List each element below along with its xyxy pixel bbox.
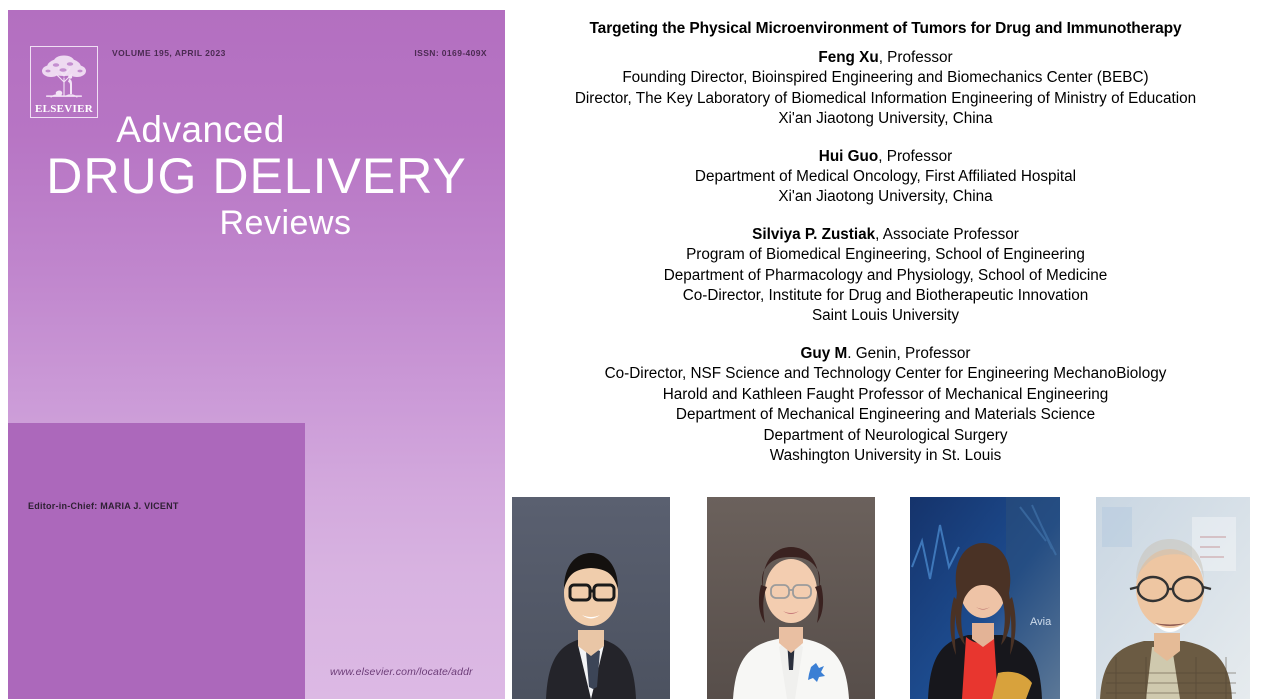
presenter-role: , Professor: [879, 49, 953, 66]
presenter-role: , Professor: [878, 148, 952, 165]
editor-in-chief-block: Editor-in-Chief: MARIA J. VICENT: [8, 423, 305, 699]
presenter-affiliation: Harold and Kathleen Faught Professor of …: [415, 385, 1266, 405]
presenter-entry: Feng Xu, Professor Founding Director, Bi…: [415, 48, 1266, 130]
presenter-entry: Hui Guo, Professor Department of Medical…: [415, 147, 1266, 208]
elsevier-tree-icon: [36, 52, 92, 102]
presenter-affiliation: Program of Biomedical Engineering, Schoo…: [415, 245, 1266, 265]
presenter-affiliation: Director, The Key Laboratory of Biomedic…: [415, 89, 1266, 109]
presenter-affiliation: Xi'an Jiaotong University, China: [415, 109, 1266, 129]
presenter-name: Guy M: [800, 345, 847, 362]
presenter-name: Silviya P. Zustiak: [752, 226, 875, 243]
presenter-name-line: Hui Guo, Professor: [415, 147, 1266, 167]
presenter-name-line: Guy M. Genin, Professor: [415, 344, 1266, 364]
cover-url-text: www.elsevier.com/locate/addr: [330, 666, 473, 678]
slide-page: VOLUME 195, APRIL 2023 ISSN: 0169-409X: [0, 0, 1266, 699]
presenter-name-line: Silviya P. Zustiak, Associate Professor: [415, 225, 1266, 245]
editor-in-chief-text: Editor-in-Chief: MARIA J. VICENT: [28, 501, 179, 511]
presenter-affiliation: Washington University in St. Louis: [415, 446, 1266, 466]
presenter-affiliation: Co-Director, NSF Science and Technology …: [415, 364, 1266, 384]
presenter-affiliation: Saint Louis University: [415, 306, 1266, 326]
presenter-entry: Silviya P. Zustiak, Associate Professor …: [415, 225, 1266, 327]
presenter-role: , Associate Professor: [875, 226, 1019, 243]
presenter-affiliation: Founding Director, Bioinspired Engineeri…: [415, 68, 1266, 88]
presenter-affiliation: Department of Neurological Surgery: [415, 426, 1266, 446]
presenter-affiliation: Department of Pharmacology and Physiolog…: [415, 266, 1266, 286]
presenter-name-line: Feng Xu, Professor: [415, 48, 1266, 68]
page-title: Targeting the Physical Microenvironment …: [505, 20, 1266, 38]
presenter-list: Feng Xu, Professor Founding Director, Bi…: [415, 48, 1266, 466]
presenter-affiliation: Co-Director, Institute for Drug and Biot…: [415, 286, 1266, 306]
presenter-entry: Guy M. Genin, Professor Co-Director, NSF…: [415, 344, 1266, 466]
presenter-name: Feng Xu: [818, 49, 878, 66]
presenter-affiliation: Department of Mechanical Engineering and…: [415, 405, 1266, 425]
presenter-affiliation: Xi'an Jiaotong University, China: [415, 187, 1266, 207]
presenter-affiliation: Department of Medical Oncology, First Af…: [415, 167, 1266, 187]
presenter-name: Hui Guo: [819, 148, 878, 165]
cover-volume-text: VOLUME 195, APRIL 2023: [112, 48, 226, 58]
presenter-role: . Genin, Professor: [847, 345, 970, 362]
slide-content: Targeting the Physical Microenvironment …: [505, 0, 1266, 699]
